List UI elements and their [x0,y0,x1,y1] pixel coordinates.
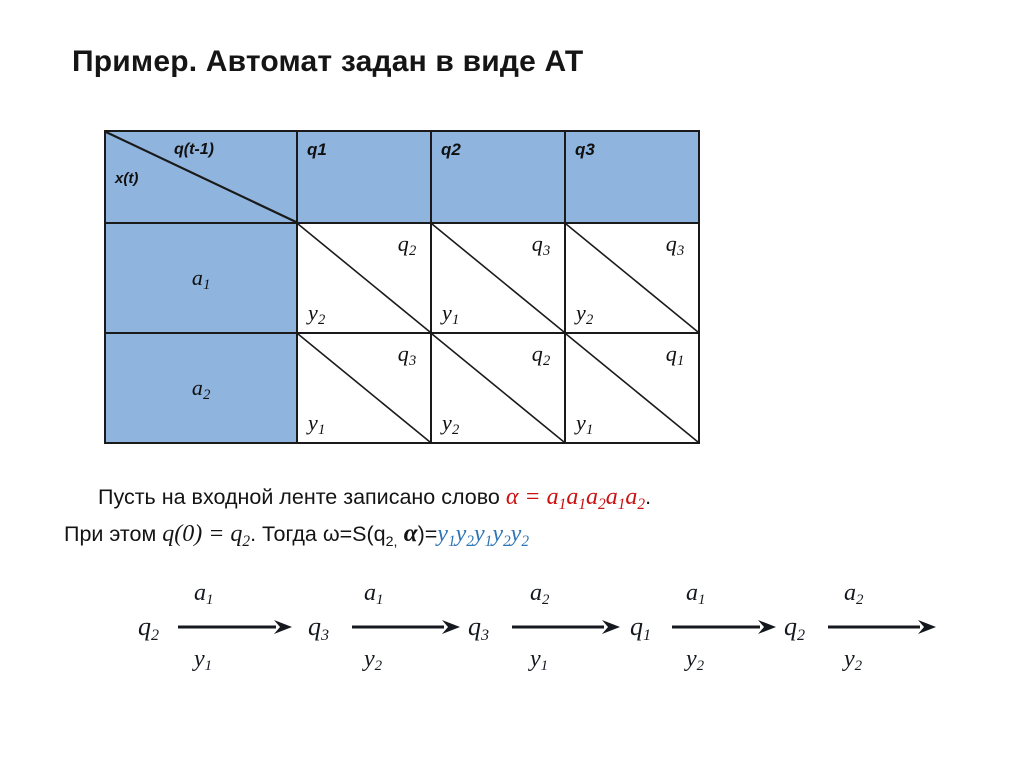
chain-input-2: a2 [530,580,549,607]
chain-arrow-4-icon [826,616,936,638]
chain-output-3: y2 [686,646,704,673]
chain-input-3: a1 [686,580,705,607]
column-header-q3: q3 [565,131,699,223]
row-header-a1: a1 [105,223,297,333]
sentence-period: . [645,485,651,509]
table-row: a2 q3 y1 q2 y2 q1 y1 [105,333,699,443]
chain-arrow-1-icon [350,616,460,638]
corner-bottom-label: x(t) [115,170,138,187]
column-header-q2: q2 [431,131,565,223]
output-word: y1y2y1y2y2 [437,521,529,547]
output-value: y1 [576,410,593,436]
cell-a2-q2: q2 y2 [431,333,565,443]
cell-a1-q2: q3 y1 [431,223,565,333]
page-title: Пример. Автомат задан в виде АТ [72,45,583,79]
next-state-value: q3 [532,231,550,257]
omega-mid: )= [418,522,438,546]
output-value: y2 [576,300,593,326]
alpha-bold-symbol: α [397,520,417,547]
row-header-label: a2 [192,375,210,400]
column-header-label: q1 [307,140,430,160]
next-state-value: q3 [398,341,416,367]
chain-input-1: a1 [364,580,383,607]
chain-input-0: a1 [194,580,213,607]
next-state-value: q2 [398,231,416,257]
chain-output-2: y1 [530,646,548,673]
chain-state-3: q1 [630,612,651,642]
cell-a1-q3: q3 y2 [565,223,699,333]
table-header-row: q(t-1) x(t) q1 q2 q3 [105,131,699,223]
next-state-value: q3 [666,231,684,257]
omega-prefix: ω=S(q2, [323,522,398,546]
cell-a2-q3: q1 y1 [565,333,699,443]
chain-arrow-0-icon [176,616,292,638]
explanation-paragraph: Пусть на входной ленте записано слово α … [64,480,1014,554]
row-header-label: a1 [192,265,210,290]
column-header-q1: q1 [297,131,431,223]
column-header-label: q2 [441,140,564,160]
output-value: y2 [308,300,325,326]
next-state-value: q1 [666,341,684,367]
table-corner-cell: q(t-1) x(t) [105,131,297,223]
corner-top-label: q(t-1) [106,141,282,159]
cell-a2-q1: q3 y1 [297,333,431,443]
table-row: a1 q2 y2 q3 y1 q3 y2 [105,223,699,333]
row-header-a2: a2 [105,333,297,443]
alpha-equals: α = [506,484,547,510]
prose-line2-mid: . Тогда [250,522,323,546]
chain-state-0: q2 [138,612,159,642]
chain-input-4: a2 [844,580,863,607]
chain-output-1: y2 [364,646,382,673]
chain-arrow-3-icon [670,616,776,638]
chain-output-4: y2 [844,646,862,673]
chain-state-4: q2 [784,612,805,642]
chain-state-2: q3 [468,612,489,642]
output-value: y2 [442,410,459,436]
output-value: y1 [442,300,459,326]
initial-state-expression: q(0) = q2 [162,521,250,547]
chain-arrow-2-icon [510,616,620,638]
next-state-value: q2 [532,341,550,367]
prose-line2-prefix: При этом [64,522,162,546]
chain-state-1: q3 [308,612,329,642]
input-word: a1a1a2a1a2 [547,484,645,510]
transition-chain-diagram: q2 a1 y1 q3 a1 y2 q3 a2 y1 q1 a1 y2 q2 a… [138,586,1008,696]
cell-a1-q1: q2 y2 [297,223,431,333]
column-header-label: q3 [575,140,698,160]
output-value: y1 [308,410,325,436]
automaton-transition-table: q(t-1) x(t) q1 q2 q3 a1 q2 y2 [104,130,700,444]
chain-output-0: y1 [194,646,212,673]
prose-line1-text: Пусть на входной ленте записано слово [98,485,500,509]
